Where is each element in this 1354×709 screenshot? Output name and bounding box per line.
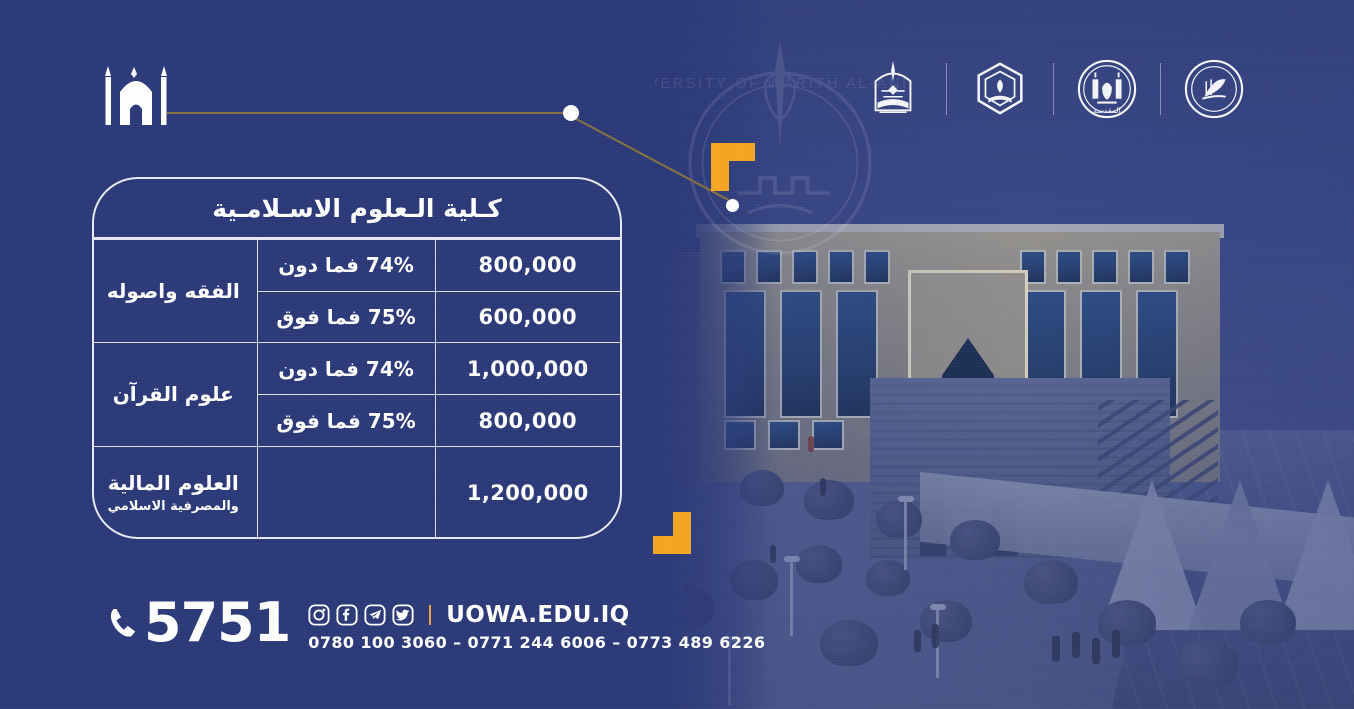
warith-al-anbiya-university-logo[interactable] [862, 58, 924, 120]
logo-divider [1160, 63, 1161, 115]
cell-amount: 1,200,000 [435, 446, 620, 539]
person [820, 478, 826, 496]
corner-bracket-top-left-icon [711, 143, 755, 191]
telegram-icon[interactable] [364, 604, 386, 626]
footer-divider [429, 605, 431, 625]
tent-canopies [950, 430, 1354, 630]
phone-numbers: 0780 100 3060 – 0771 244 6006 – 0773 489… [308, 633, 765, 652]
table-row: 1,000,000 74% فما دون علوم القرآن [92, 343, 620, 395]
cell-grade: 74% فما دون [257, 343, 435, 395]
college-emblem-logo[interactable] [969, 58, 1031, 120]
shrub [804, 480, 854, 520]
person [1052, 636, 1060, 662]
shrub [1176, 640, 1238, 688]
ministry-of-higher-education-logo[interactable] [1183, 58, 1245, 120]
person [914, 630, 921, 652]
person [808, 436, 814, 452]
cell-department: علوم القرآن [92, 343, 257, 446]
hotline-number: 5751 [144, 598, 290, 648]
cell-grade: 74% فما دون [257, 240, 435, 292]
social-row: UOWA.EDU.IQ [308, 602, 765, 628]
website-url[interactable]: UOWA.EDU.IQ [446, 602, 629, 628]
cell-grade: 75% فما فوق [257, 291, 435, 343]
twitter-icon[interactable] [392, 604, 414, 626]
phone-icon [108, 606, 138, 640]
department-subtitle: والمصرفية الاسلامي [92, 499, 257, 515]
window-row-top-right [1020, 250, 1190, 284]
connector-dot [726, 199, 739, 212]
footer-right: UOWA.EDU.IQ 0780 100 3060 – 0771 244 600… [308, 602, 765, 652]
department-name: الفقه واصوله [107, 279, 240, 303]
street-lamp [904, 500, 907, 570]
facebook-icon[interactable] [336, 604, 358, 626]
fees-card: كـلية الـعلوم الاسـلامـية 800,000 74% فم… [92, 177, 622, 539]
cell-grade [257, 446, 435, 539]
table-row: 800,000 74% فما دون الفقه واصوله [92, 240, 620, 292]
cell-amount: 600,000 [435, 291, 620, 343]
table-row: 1,200,000 العلوم المالية والمصرفية الاسل… [92, 446, 620, 539]
al-ataba-al-abbasiya-logo[interactable]: المقدسة [1076, 58, 1138, 120]
department-name: علوم القرآن [113, 382, 234, 406]
footer-contact: 5751 [108, 598, 628, 668]
person [770, 545, 776, 563]
shrub [1098, 600, 1156, 646]
shrub [950, 520, 1000, 560]
person [1072, 632, 1080, 658]
shrub [1024, 560, 1078, 604]
logo-divider [1053, 63, 1054, 115]
card-header: كـلية الـعلوم الاسـلامـية [94, 179, 620, 239]
cell-amount: 1,000,000 [435, 343, 620, 395]
person [1092, 638, 1100, 664]
connector-line-horizontal [167, 112, 567, 114]
shrub [796, 545, 842, 583]
person [1112, 630, 1120, 658]
person [932, 624, 939, 648]
svg-text:المقدسة: المقدسة [1093, 106, 1121, 115]
connector-dot [563, 105, 579, 121]
corner-bracket-bottom-left-icon [653, 512, 691, 554]
street-lamp [790, 560, 793, 636]
shrub [1240, 600, 1296, 644]
shrub [820, 620, 878, 666]
poster-canvas: UNIVERSITY OF WARITH AL-ANBIYA [0, 0, 1354, 709]
shrub [920, 600, 972, 642]
instagram-icon[interactable] [308, 604, 330, 626]
cell-department: العلوم المالية والمصرفية الاسلامي [92, 446, 257, 539]
page-title: كـلية الـعلوم الاسـلامـية [212, 194, 502, 223]
cell-amount: 800,000 [435, 395, 620, 447]
cell-grade: 75% فما فوق [257, 395, 435, 447]
fees-table: 800,000 74% فما دون الفقه واصوله 600,000… [92, 239, 620, 539]
partner-logos: المقدسة [862, 58, 1245, 120]
shrub [876, 500, 922, 538]
cell-department: الفقه واصوله [92, 240, 257, 343]
logo-divider [946, 63, 947, 115]
department-name: العلوم المالية [108, 471, 239, 495]
mosque-icon [97, 62, 175, 132]
cell-amount: 800,000 [435, 240, 620, 292]
